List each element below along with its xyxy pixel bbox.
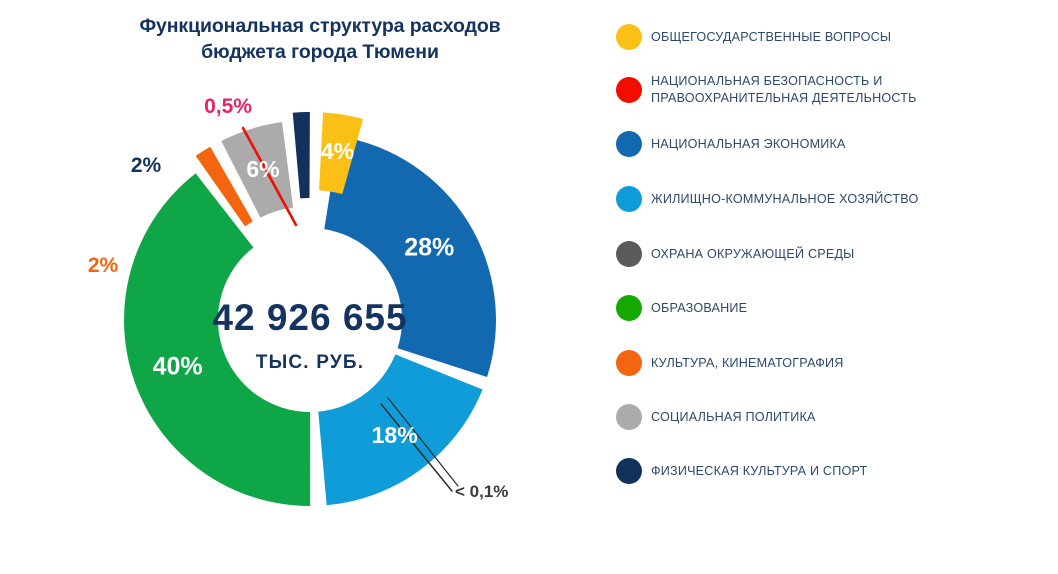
legend-item-national-economy[interactable]: НАЦИОНАЛЬНАЯ ЭКОНОМИКА [616,131,846,157]
legend: ОБЩЕГОСУДАРСТВЕННЫЕ ВОПРОСЫНАЦИОНАЛЬНАЯ … [616,0,1058,574]
legend-item-culture-cinema[interactable]: КУЛЬТУРА, КИНЕМАТОГРАФИЯ [616,350,844,376]
legend-color-dot-housing-utilities [616,186,642,212]
slice-value-label-education: 40% [153,353,203,381]
legend-color-dot-physical-culture-sport [616,458,642,484]
pie-slice-education[interactable] [124,173,310,506]
pie-slice-physical_culture_sport[interactable] [293,112,310,198]
slice-value-label-housing_utilities: 18% [372,422,418,448]
center-total-unit: ТЫС. РУБ. [256,352,364,373]
legend-label-culture-cinema: КУЛЬТУРА, КИНЕМАТОГРАФИЯ [651,355,844,372]
callout-2-navy-label: 2% [131,154,162,177]
callout-01-label: < 0,1% [455,482,508,501]
legend-label-physical-culture-sport: ФИЗИЧЕСКАЯ КУЛЬТУРА И СПОРТ [651,463,867,480]
legend-item-housing-utilities[interactable]: ЖИЛИЩНО-КОММУНАЛЬНОЕ ХОЗЯЙСТВО [616,186,919,212]
infographic-root: Функциональная структура расходов бюджет… [0,0,1058,574]
legend-color-dot-national-security [616,77,642,103]
legend-label-national-economy: НАЦИОНАЛЬНАЯ ЭКОНОМИКА [651,136,846,153]
center-total-value: 42 926 655 [212,297,407,338]
callout-2-orng-label: 2% [88,254,119,277]
legend-item-physical-culture-sport[interactable]: ФИЗИЧЕСКАЯ КУЛЬТУРА И СПОРТ [616,458,867,484]
legend-label-environment: ОХРАНА ОКРУЖАЮЩЕЙ СРЕДЫ [651,246,855,263]
legend-item-national-security[interactable]: НАЦИОНАЛЬНАЯ БЕЗОПАСНОСТЬ И ПРАВООХРАНИТ… [616,73,917,106]
legend-item-general-questions[interactable]: ОБЩЕГОСУДАРСТВЕННЫЕ ВОПРОСЫ [616,24,891,50]
legend-label-general-questions: ОБЩЕГОСУДАРСТВЕННЫЕ ВОПРОСЫ [651,29,891,46]
legend-label-housing-utilities: ЖИЛИЩНО-КОММУНАЛЬНОЕ ХОЗЯЙСТВО [651,191,919,208]
legend-label-national-security: НАЦИОНАЛЬНАЯ БЕЗОПАСНОСТЬ И ПРАВООХРАНИТ… [651,73,917,106]
legend-color-dot-national-economy [616,131,642,157]
legend-item-education[interactable]: ОБРАЗОВАНИЕ [616,295,747,321]
legend-item-environment[interactable]: ОХРАНА ОКРУЖАЮЩЕЙ СРЕДЫ [616,241,855,267]
slice-value-label-national_economy: 28% [404,234,454,262]
legend-color-dot-social-policy [616,404,642,430]
legend-color-dot-education [616,295,642,321]
slice-value-label-general_questions: 4% [321,138,354,164]
legend-label-social-policy: СОЦИАЛЬНАЯ ПОЛИТИКА [651,409,816,426]
legend-item-social-policy[interactable]: СОЦИАЛЬНАЯ ПОЛИТИКА [616,404,816,430]
donut-chart: 28%18%40%6%4%0,5%2%2%< 0,1% 42 926 655 Т… [0,0,610,574]
legend-label-education: ОБРАЗОВАНИЕ [651,300,747,317]
legend-color-dot-culture-cinema [616,350,642,376]
donut-svg: 28%18%40%6%4%0,5%2%2%< 0,1% 42 926 655 Т… [0,0,610,574]
legend-color-dot-general-questions [616,24,642,50]
callout-0-5-label: 0,5% [204,95,252,118]
slice-value-label-social_policy: 6% [246,156,279,182]
legend-color-dot-environment [616,241,642,267]
